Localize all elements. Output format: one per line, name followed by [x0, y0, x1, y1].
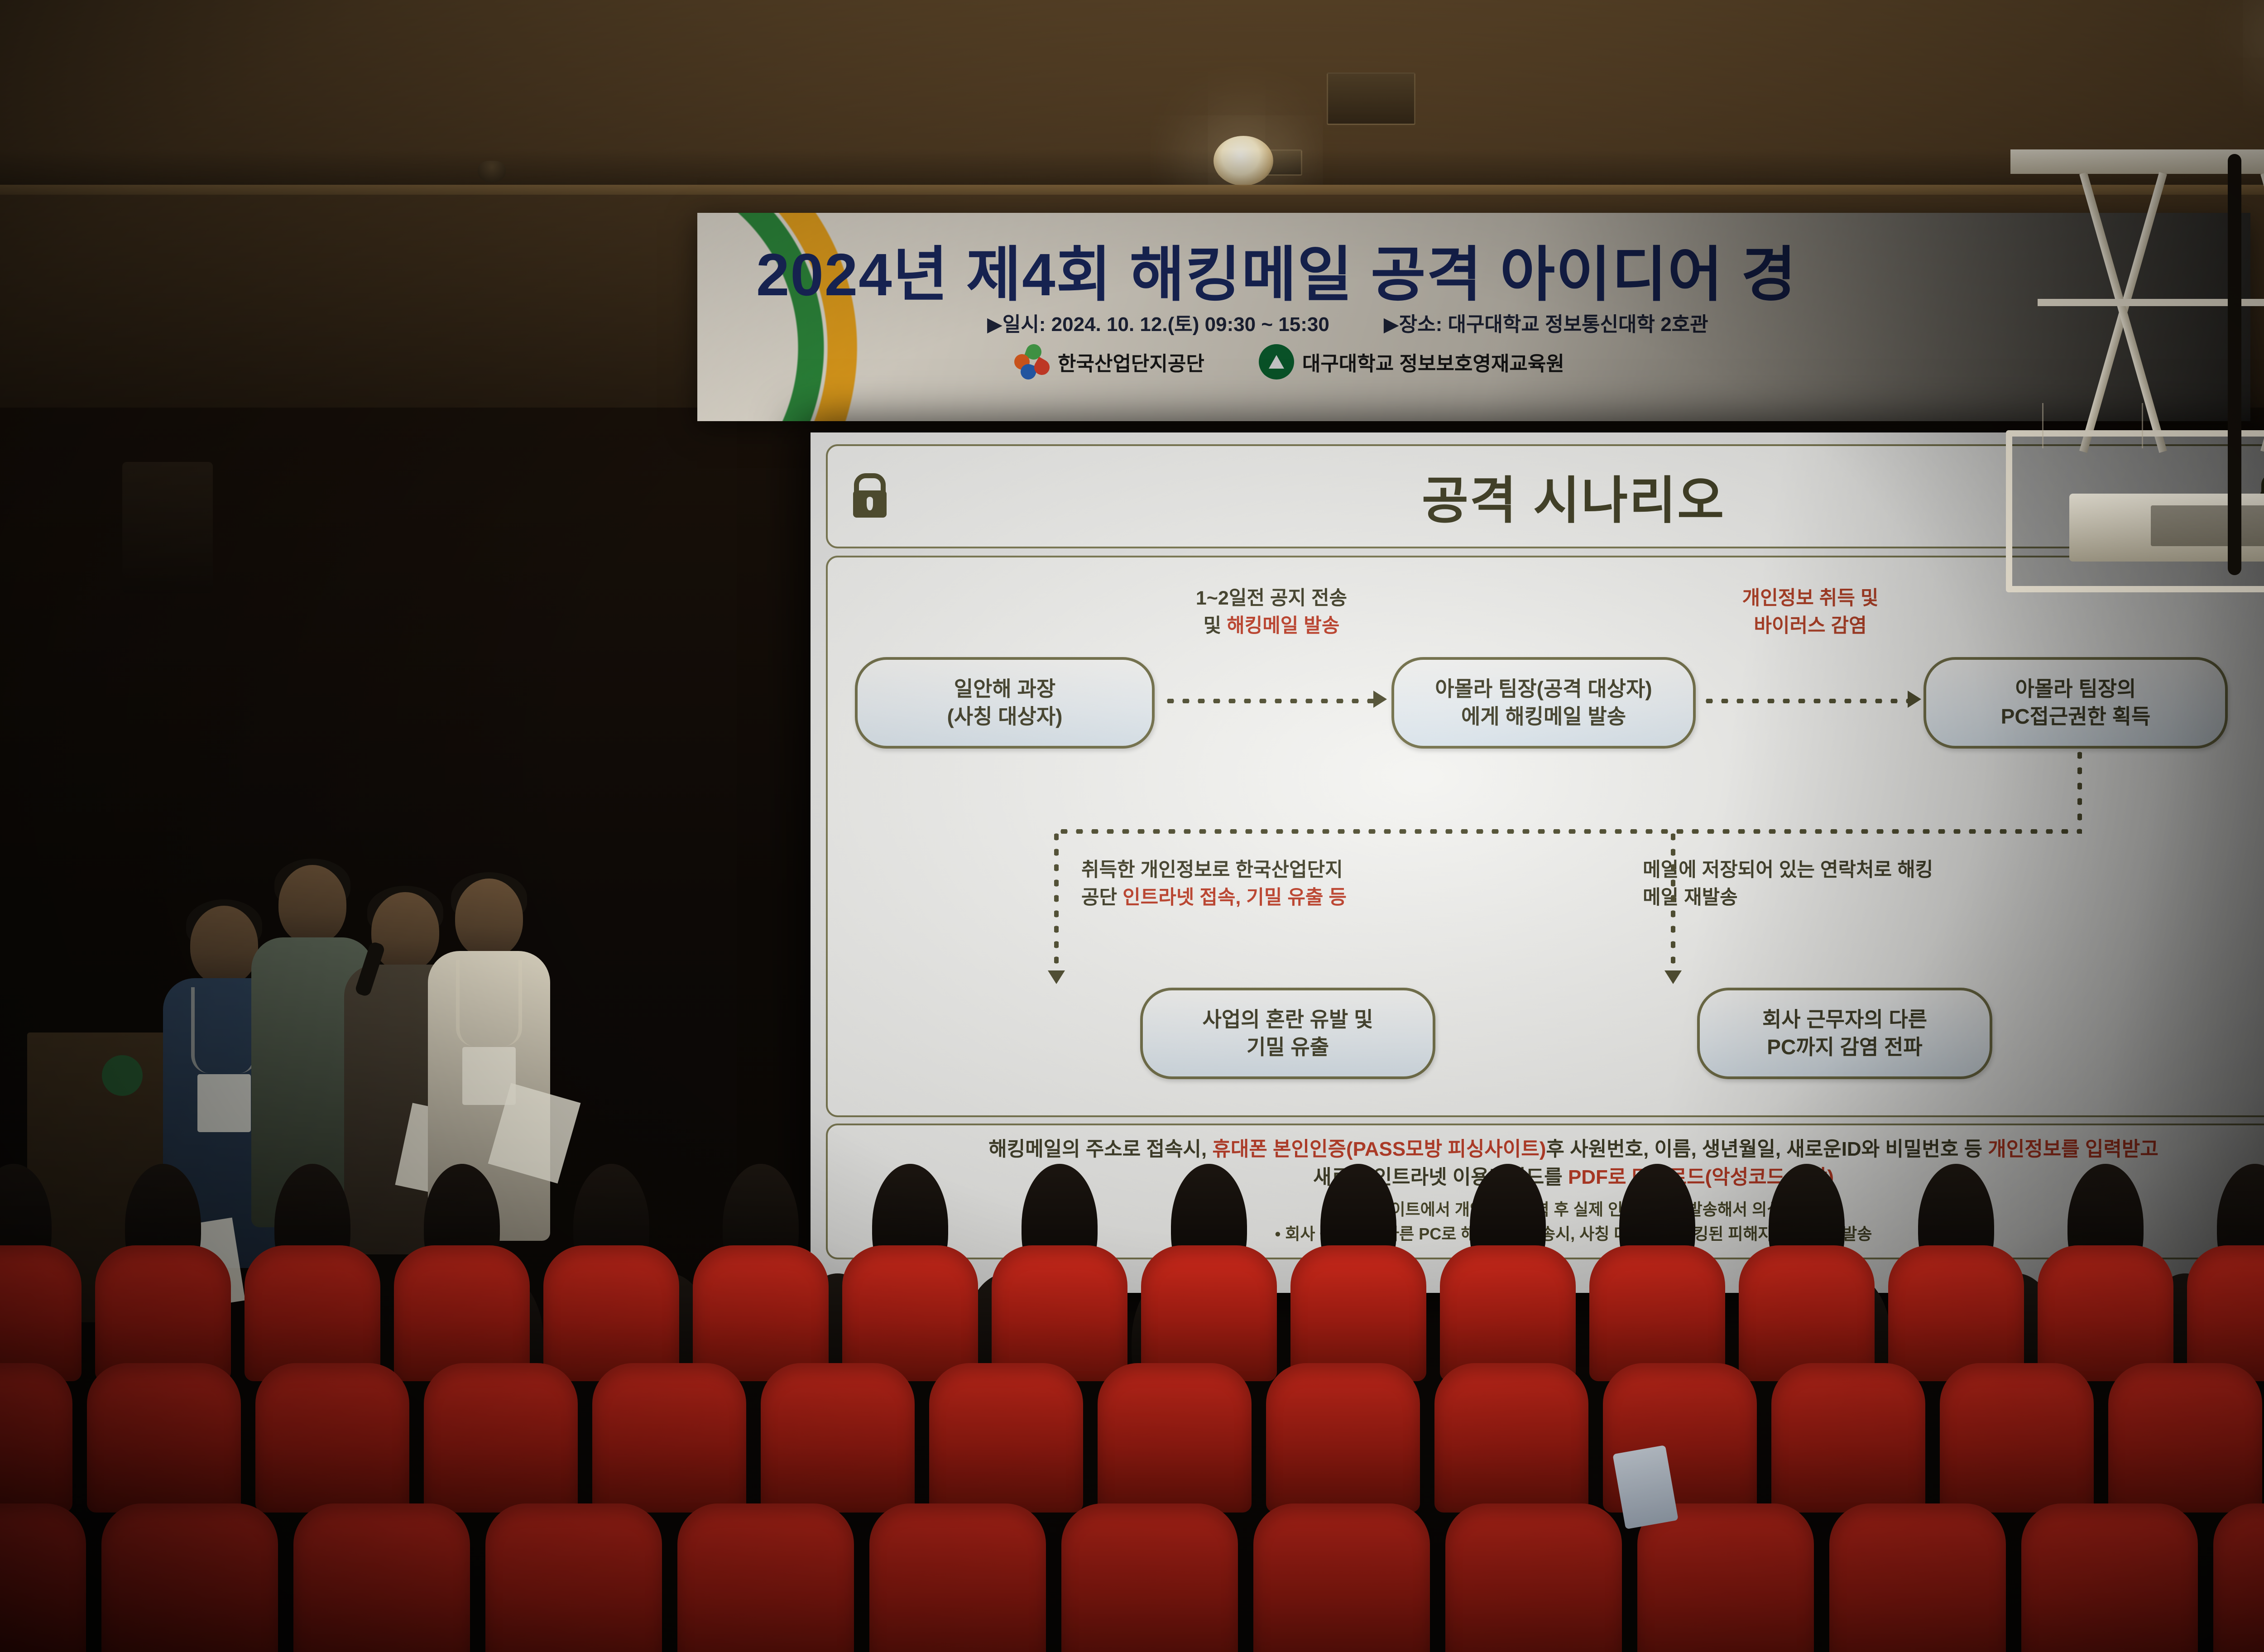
rig-suspension-wire — [2142, 403, 2143, 448]
auditorium-seat — [0, 1363, 72, 1513]
auditorium-seat — [869, 1503, 1046, 1652]
flow-arrowhead-icon — [1048, 970, 1065, 984]
banner-place: ▶장소: 대구대학교 정보통신대학 2호관 — [1384, 308, 1708, 337]
auditorium-seat — [842, 1245, 978, 1381]
auditorium-seat — [1434, 1363, 1588, 1513]
banner-subinfo: ▶일시: 2024. 10. 12.(토) 09:30 ~ 15:30 ▶장소:… — [987, 308, 2164, 337]
auditorium-seat — [2108, 1363, 2262, 1513]
auditorium-seat — [101, 1503, 278, 1652]
rig-suspension-wire — [2042, 403, 2043, 448]
auditorium-seat — [992, 1245, 1127, 1381]
auditorium-seat — [245, 1245, 380, 1381]
auditorium-seat — [2213, 1503, 2264, 1652]
ceiling-projector-lift — [1992, 149, 2264, 652]
flow-arrow-dotted — [1054, 829, 1059, 974]
daegu-mark-icon — [1259, 344, 1294, 379]
podium-emblem — [102, 1055, 143, 1096]
flow-edge-label-virus-infection: 개인정보 취득 및 바이러스 감염 — [1684, 585, 1937, 640]
daegu-univ-logo: 대구대학교 정보보호영재교육원 — [1259, 344, 1564, 379]
slide-title: 공격 시나리오 — [1422, 460, 1725, 533]
auditorium-seat — [543, 1245, 679, 1381]
auditorium-seat — [394, 1245, 530, 1381]
lock-icon — [853, 473, 887, 518]
flow-arrowhead-icon — [1908, 691, 1921, 708]
lanyard — [456, 960, 522, 1046]
auditorium-seat — [761, 1363, 915, 1513]
auditorium-seat — [2021, 1503, 2198, 1652]
auditorium-seat — [1589, 1245, 1725, 1381]
flow-arrow-dotted — [1671, 829, 1675, 974]
flow-arrow-dotted — [1702, 699, 1910, 703]
auditorium-seat — [485, 1503, 662, 1652]
flow-arrow-dotted — [1056, 829, 2080, 834]
flow-edge-label-mail-resend: 메일에 저장되어 있는 연락처로 해킹 메일 재발송 — [1643, 856, 2050, 912]
auditorium-seat — [87, 1363, 241, 1513]
flow-node-infection-spread: 회사 근무자의 다른 PC까지 감염 전파 — [1697, 988, 1992, 1079]
auditorium-seat — [677, 1503, 854, 1652]
rig-cable — [2228, 154, 2241, 575]
auditorium-seat — [1061, 1503, 1238, 1652]
auditorium-photo: 2024년 제4회 해킹메일 공격 아이디어 경 ▶일시: 2024. 10. … — [0, 0, 2264, 1652]
auditorium-seat — [693, 1245, 829, 1381]
auditorium-seat — [1771, 1363, 1925, 1513]
kicox-mark-icon — [1014, 344, 1050, 379]
kicox-logo-text: 한국산업단지공단 — [1058, 347, 1204, 376]
projector-ports — [2151, 505, 2264, 546]
flow-node-secret-leak: 사업의 혼란 유발 및 기밀 유출 — [1140, 988, 1435, 1079]
auditorium-seat — [0, 1245, 82, 1381]
auditorium-seat — [95, 1245, 231, 1381]
auditorium-seat — [1829, 1503, 2006, 1652]
flow-edge-label-intranet-access: 취득한 개인정보로 한국산업단지 공단 인트라넷 접속, 기밀 유출 등 — [1081, 856, 1489, 912]
flow-node-pc-access: 아몰라 팀장의 PC접근권한 획득 — [1923, 657, 2228, 749]
auditorium-seat — [592, 1363, 746, 1513]
auditorium-seat — [1141, 1245, 1277, 1381]
presenter-head — [455, 879, 523, 958]
flow-arrowhead-icon — [1664, 970, 1682, 984]
presenter-group — [149, 779, 611, 1313]
auditorium-seat — [0, 1503, 86, 1652]
flow-node-impersonation-target: 일안해 과장 (사칭 대상자) — [855, 657, 1155, 749]
flow-arrow-dotted — [1163, 699, 1376, 703]
daegu-logo-text: 대구대학교 정보보호영재교육원 — [1302, 347, 1564, 376]
flow-edge-label-notice-mail: 1~2일전 공지 전송 및 해킹메일 발송 — [1145, 585, 1398, 640]
banner-date: ▶일시: 2024. 10. 12.(토) 09:30 ~ 15:30 — [987, 308, 1329, 337]
auditorium-seat — [1098, 1363, 1252, 1513]
flow-node-attack-target: 아몰라 팀장(공격 대상자) 에게 해킹메일 발송 — [1391, 657, 1696, 749]
auditorium-seat — [1445, 1503, 1622, 1652]
auditorium-seat — [255, 1363, 409, 1513]
auditorium-seat — [2038, 1245, 2173, 1381]
flow-arrowhead-icon — [1373, 691, 1387, 708]
auditorium-seat — [1266, 1363, 1420, 1513]
wall-speaker — [122, 462, 213, 593]
auditorium-seat — [929, 1363, 1083, 1513]
kicox-logo: 한국산업단지공단 — [1014, 344, 1204, 379]
auditorium-seat — [1888, 1245, 2024, 1381]
auditorium-seat — [424, 1363, 578, 1513]
ceiling-vent-icon — [1327, 72, 1415, 125]
auditorium-seat — [1739, 1245, 1875, 1381]
auditorium-seat — [1637, 1503, 1814, 1652]
auditorium-seat — [1253, 1503, 1430, 1652]
auditorium-seat — [293, 1503, 470, 1652]
flow-arrow-dotted — [2077, 748, 2082, 834]
auditorium-seat — [1290, 1245, 1426, 1381]
banner-logo-row: 한국산업단지공단 대구대학교 정보보호영재교육원 — [1014, 344, 1564, 379]
auditorium-seat — [1940, 1363, 2094, 1513]
auditorium-seat — [1440, 1245, 1576, 1381]
audience-area — [0, 1250, 2264, 1652]
auditorium-seat — [2187, 1245, 2264, 1381]
